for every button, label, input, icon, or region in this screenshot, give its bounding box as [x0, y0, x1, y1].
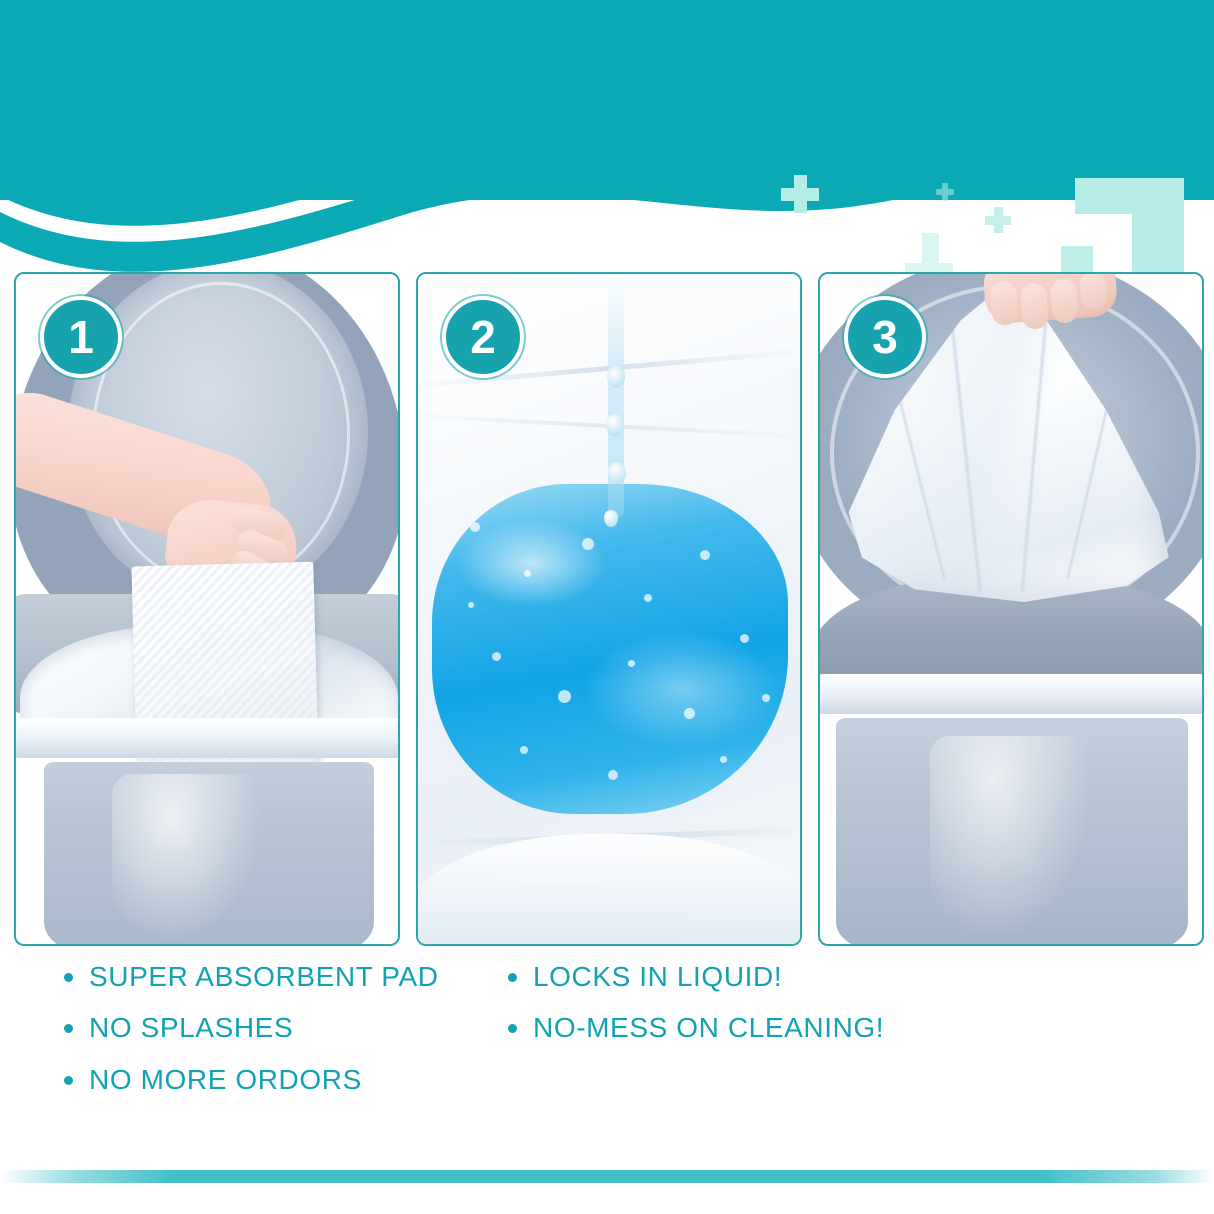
header-decor-line-3 [70, 125, 180, 130]
header-band: EASY-TO-USE [0, 0, 1214, 200]
plus-shape-icon [936, 183, 954, 201]
list-item: NO MORE ORDORS [64, 1065, 439, 1094]
list-item: LOCKS IN LIQUID! [508, 962, 884, 991]
bullet-dot-icon [64, 1076, 73, 1085]
footer-accent-bar [0, 1170, 1214, 1183]
bullet-dot-icon [508, 1024, 517, 1033]
step-panel-1[interactable]: 1 [14, 272, 400, 946]
feature-column-left: SUPER ABSORBENT PAD NO SPLASHES NO MORE … [64, 962, 439, 1116]
steps-gallery: 1 [0, 272, 1214, 942]
header-decor-line-1 [70, 98, 210, 105]
bullet-dot-icon [64, 1024, 73, 1033]
step-badge-3: 3 [844, 296, 926, 378]
step-badge-1: 1 [40, 296, 122, 378]
feature-label: NO-MESS ON CLEANING! [533, 1013, 884, 1042]
bullet-dot-icon [64, 973, 73, 982]
feature-list: SUPER ABSORBENT PAD NO SPLASHES NO MORE … [0, 962, 1214, 1142]
plus-shape-icon [781, 175, 819, 213]
bullet-dot-icon [508, 973, 517, 982]
feature-label: NO SPLASHES [89, 1013, 293, 1042]
list-item: SUPER ABSORBENT PAD [64, 962, 439, 991]
header-decor-line-2 [88, 112, 228, 116]
step-panel-2[interactable]: 2 [416, 272, 802, 946]
feature-label: SUPER ABSORBENT PAD [89, 962, 439, 991]
step-badge-2: 2 [442, 296, 524, 378]
page-title: EASY-TO-USE [70, 16, 470, 78]
feature-column-right: LOCKS IN LIQUID! NO-MESS ON CLEANING! [508, 962, 884, 1065]
infographic-canvas: EASY-TO-USE [0, 0, 1214, 1214]
list-item: NO SPLASHES [64, 1013, 439, 1042]
list-item: NO-MESS ON CLEANING! [508, 1013, 884, 1042]
feature-label: NO MORE ORDORS [89, 1065, 362, 1094]
step-panel-3[interactable]: 3 [818, 272, 1204, 946]
plus-shape-icon [985, 207, 1011, 233]
feature-label: LOCKS IN LIQUID! [533, 962, 782, 991]
